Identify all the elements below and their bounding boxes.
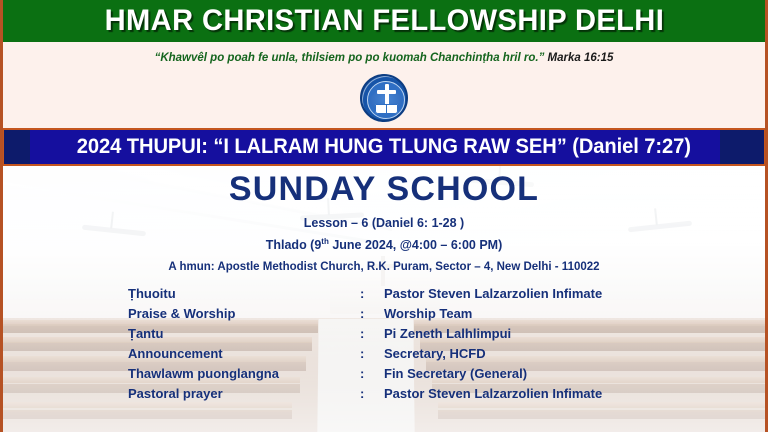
program-value: Worship Team	[384, 306, 768, 321]
hcfd-logo-icon	[360, 74, 408, 122]
program-separator: :	[360, 306, 384, 321]
program-separator: :	[360, 346, 384, 361]
poster-canvas: HMAR CHRISTIAN FELLOWSHIP DELHI “Khawvêl…	[0, 0, 768, 432]
verse-strip: “Khawvêl po poah fe unla, thilsiem po po…	[0, 42, 768, 74]
program-separator: :	[360, 386, 384, 401]
datetime-prefix: Thlado (9	[266, 238, 322, 252]
program-label: Announcement	[128, 346, 360, 361]
program-label: Ṭhuoitu	[128, 286, 360, 301]
program-separator: :	[360, 366, 384, 381]
program-label: Pastoral prayer	[128, 386, 360, 401]
program-label: Ṭantu	[128, 326, 360, 341]
lesson-line: Lesson – 6 (Daniel 6: 1-28 )	[0, 216, 768, 230]
program-row: Announcement : Secretary, HCFD	[0, 343, 768, 363]
datetime-suffix: June 2024, @4:00 – 6:00 PM)	[329, 238, 502, 252]
program-list: Ṭhuoitu : Pastor Steven Lalzarzolien Inf…	[0, 283, 768, 403]
event-headline: SUNDAY SCHOOL	[0, 170, 768, 209]
left-frame-border	[0, 0, 3, 432]
bible-verse: “Khawvêl po poah fe unla, thilsiem po po…	[155, 52, 614, 64]
program-value: Fin Secretary (General)	[384, 366, 768, 381]
logo-container	[0, 74, 768, 128]
datetime-line: Thlado (9th June 2024, @4:00 – 6:00 PM)	[0, 237, 768, 252]
venue-line: A hmun: Apostle Methodist Church, R.K. P…	[0, 261, 768, 273]
annual-theme-banner: 2024 THUPUI: “I LALRAM HUNG TLUNG RAW SE…	[2, 128, 766, 166]
program-row: Ṭhuoitu : Pastor Steven Lalzarzolien Inf…	[0, 283, 768, 303]
annual-theme-text: 2024 THUPUI: “I LALRAM HUNG TLUNG RAW SE…	[77, 135, 691, 159]
organization-title-band: HMAR CHRISTIAN FELLOWSHIP DELHI	[0, 0, 768, 42]
verse-reference: Marka 16:15	[548, 52, 614, 64]
program-separator: :	[360, 326, 384, 341]
program-value: Secretary, HCFD	[384, 346, 768, 361]
program-separator: :	[360, 286, 384, 301]
main-content: SUNDAY SCHOOL Lesson – 6 (Daniel 6: 1-28…	[0, 168, 768, 432]
program-value: Pastor Steven Lalzarzolien Infimate	[384, 386, 768, 401]
program-row: Pastoral prayer : Pastor Steven Lalzarzo…	[0, 383, 768, 403]
program-value: Pastor Steven Lalzarzolien Infimate	[384, 286, 768, 301]
date-ordinal: th	[321, 237, 329, 246]
program-label: Praise & Worship	[128, 306, 360, 321]
program-row: Ṭantu : Pi Zeneth Lalhlimpui	[0, 323, 768, 343]
program-row: Praise & Worship : Worship Team	[0, 303, 768, 323]
program-value: Pi Zeneth Lalhlimpui	[384, 326, 768, 341]
verse-quote: “Khawvêl po poah fe unla, thilsiem po po…	[155, 52, 545, 64]
program-label: Thawlawm puonglangna	[128, 366, 360, 381]
logo-ring	[362, 76, 408, 122]
program-row: Thawlawm puonglangna : Fin Secretary (Ge…	[0, 363, 768, 383]
page-title: HMAR CHRISTIAN FELLOWSHIP DELHI	[104, 4, 664, 38]
